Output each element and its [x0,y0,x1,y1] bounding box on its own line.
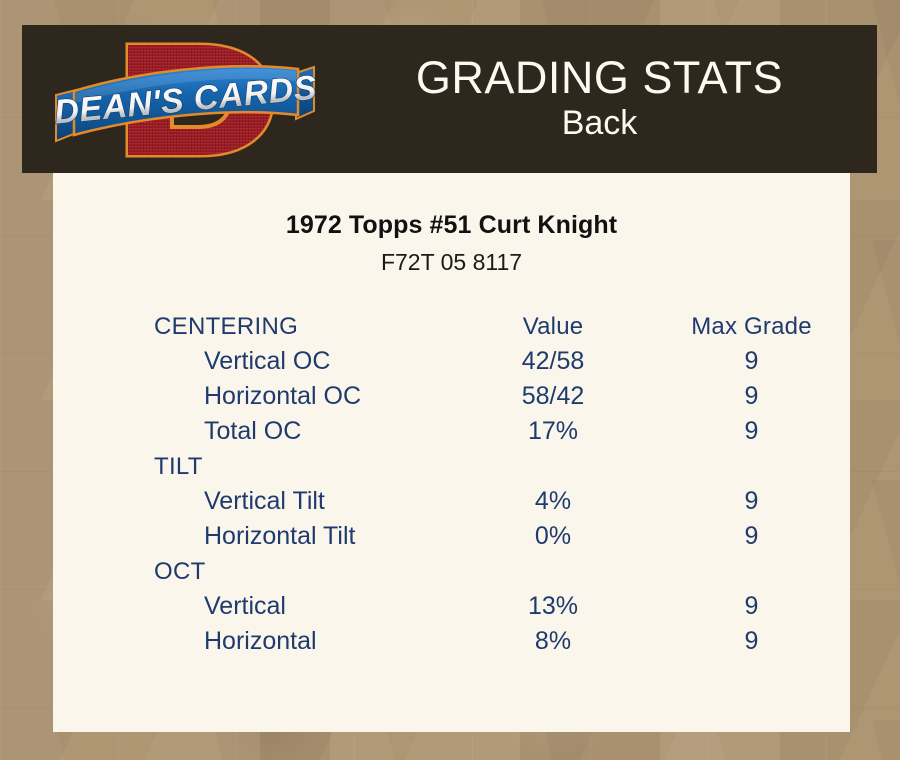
row-grade: 9 [653,379,850,414]
column-header-centering: CENTERING [53,309,453,344]
header-bar: DEAN'S CARDS GRADING STATS Back [22,25,877,173]
row-label: Horizontal Tilt [53,519,453,554]
table-row: Vertical Tilt 4% 9 [53,484,850,519]
row-label: Vertical [53,589,453,624]
table-header-row: CENTERING Value Max Grade [53,309,850,344]
row-value: 0% [453,519,653,554]
row-value: 13% [453,589,653,624]
row-value: 17% [453,414,653,449]
card-title: 1972 Topps #51 Curt Knight [53,211,850,240]
header-title-group: GRADING STATS Back [322,25,877,173]
row-grade: 9 [653,624,850,659]
page-title: GRADING STATS [416,55,783,101]
table-row: Vertical 13% 9 [53,589,850,624]
section-spacer [453,449,653,484]
row-value: 42/58 [453,344,653,379]
grading-stats-table: CENTERING Value Max Grade Vertical OC 42… [53,309,850,659]
row-label: Vertical OC [53,344,453,379]
row-value: 4% [453,484,653,519]
row-label: Horizontal [53,624,453,659]
card-code: F72T 05 8117 [53,249,850,276]
row-grade: 9 [653,344,850,379]
section-name: TILT [53,449,453,484]
content-panel: 1972 Topps #51 Curt Knight F72T 05 8117 … [53,173,850,732]
table-row: Total OC 17% 9 [53,414,850,449]
section-spacer [453,554,653,589]
table-row: Horizontal 8% 9 [53,624,850,659]
section-spacer [653,449,850,484]
row-label: Total OC [53,414,453,449]
row-grade: 9 [653,589,850,624]
table-row: Horizontal OC 58/42 9 [53,379,850,414]
section-header-tilt: TILT [53,449,850,484]
column-header-value: Value [453,309,653,344]
deans-cards-logo: DEAN'S CARDS [50,29,320,171]
section-header-oct: OCT [53,554,850,589]
table-row: Horizontal Tilt 0% 9 [53,519,850,554]
row-label: Vertical Tilt [53,484,453,519]
section-name: OCT [53,554,453,589]
section-spacer [653,554,850,589]
row-value: 8% [453,624,653,659]
table-row: Vertical OC 42/58 9 [53,344,850,379]
column-header-max-grade: Max Grade [653,309,850,344]
page-subtitle: Back [562,104,638,143]
row-label: Horizontal OC [53,379,453,414]
row-grade: 9 [653,414,850,449]
table-body: Vertical OC 42/58 9 Horizontal OC 58/42 … [53,344,850,659]
row-grade: 9 [653,519,850,554]
row-grade: 9 [653,484,850,519]
row-value: 58/42 [453,379,653,414]
